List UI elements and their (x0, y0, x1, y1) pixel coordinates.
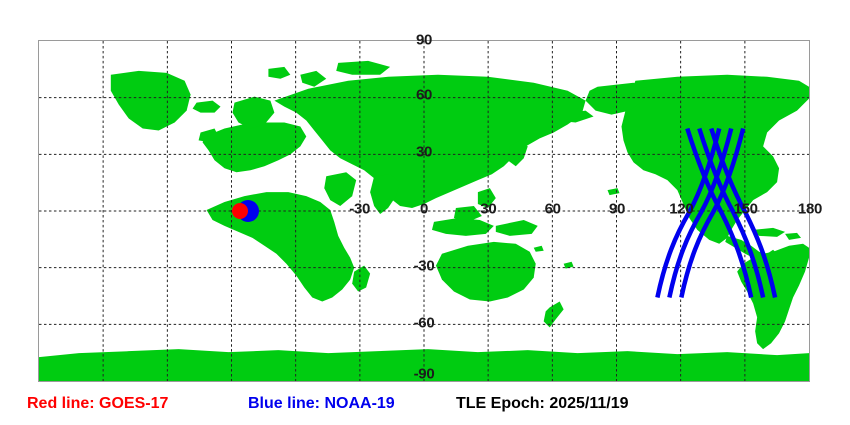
land-australia (436, 242, 536, 302)
latitude-tick-label: 90 (416, 33, 432, 48)
land-indonesia (432, 218, 494, 236)
longitude-tick-label: 60 (545, 202, 561, 217)
land-greenland (111, 71, 191, 131)
land-europe (203, 123, 307, 173)
longitude-tick-label: 30 (480, 202, 496, 217)
longitude-tick-label: 180 (798, 202, 822, 217)
land-hispaniola (785, 233, 801, 240)
longitude-tick-label: 0 (420, 202, 428, 217)
latitude-tick-label: -60 (414, 316, 435, 331)
goes17-position-marker (232, 203, 248, 219)
land-novaya-zemlya (300, 71, 326, 87)
land-north-america (621, 75, 809, 244)
latitude-tick-label: -30 (414, 259, 435, 274)
land-iceland (193, 101, 221, 113)
legend-tle-epoch: TLE Epoch: 2025/11/19 (456, 396, 629, 412)
land-new-guinea (496, 220, 538, 236)
latitude-tick-label: -90 (414, 367, 435, 382)
latitude-tick-label: 60 (416, 88, 432, 103)
legend-red-line-goes17: Red line: GOES-17 (27, 396, 168, 412)
land-svalbard (268, 67, 290, 79)
land-arctic-islands (336, 61, 390, 75)
map-legend: Red line: GOES-17 Blue line: NOAA-19 TLE… (0, 392, 850, 425)
land-new-zealand (544, 301, 564, 327)
longitude-tick-label: 150 (734, 202, 758, 217)
land-pacific-islands (534, 246, 544, 252)
longitude-tick-label: 120 (669, 202, 693, 217)
longitude-tick-label: -30 (349, 202, 370, 217)
land-india (370, 174, 400, 214)
longitude-tick-label: 90 (609, 202, 625, 217)
land-hawaii (608, 188, 620, 195)
land-africa (207, 192, 355, 301)
legend-blue-line-noaa19: Blue line: NOAA-19 (248, 396, 395, 412)
satellite-track-map-figure: -300306090120150180-150-120-90-60 906030… (0, 0, 850, 425)
latitude-tick-label: 30 (416, 145, 432, 160)
land-madagascar (352, 266, 370, 292)
